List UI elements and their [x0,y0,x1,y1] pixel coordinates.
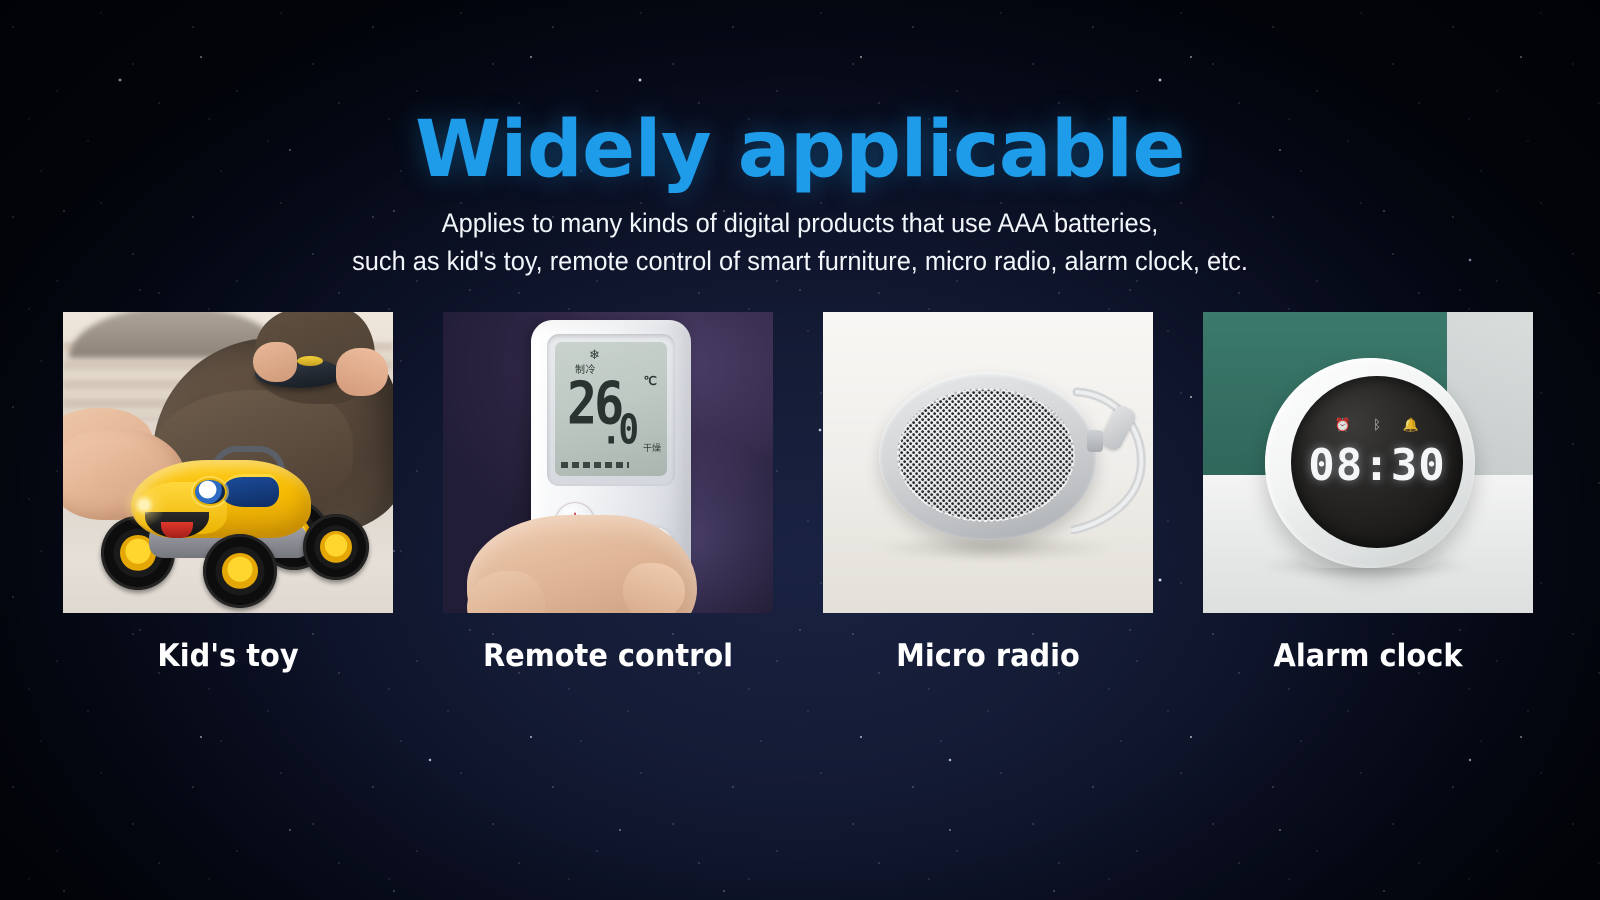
speaker-housing [879,372,1097,540]
caption-remote-control: Remote control [455,636,762,680]
remote-temperature-decimal: .0 [601,410,636,451]
toy-wheel [303,514,369,580]
caption-alarm-clock: Alarm clock [1215,636,1522,680]
subtitle-line-1: Applies to many kinds of digital product… [48,204,1552,242]
product-card-remote-control[interactable]: ❄ 制冷 26 .0 ℃ 干燥 ⏻ 模式 + ❧ [443,312,773,613]
bluetooth-icon: ᛒ [1373,418,1381,431]
page-title: Widely applicable [0,108,1600,192]
widely-applicable-banner: Widely applicable Applies to many kinds … [0,0,1600,900]
timer-icon: ⏰ [1335,418,1351,431]
micro-radio-photo [823,312,1153,613]
alarm-clock-body: ⏰ ᛒ 🔔 08:30 [1265,358,1475,568]
product-image-row: ❄ 制冷 26 .0 ℃ 干燥 ⏻ 模式 + ❧ [63,312,1533,613]
remote-temperature-unit: ℃ [644,374,657,388]
alarm-clock-status-icons: ⏰ ᛒ 🔔 [1291,418,1463,431]
remote-dry-label: 干燥 [643,441,661,454]
toy-face-eye [193,478,227,506]
snowflake-icon: ❄ [589,348,600,361]
remote-lcd-screen: ❄ 制冷 26 .0 ℃ 干燥 [555,342,667,476]
caption-kids-toy: Kid's toy [75,636,382,680]
alarm-clock-photo: ⏰ ᛒ 🔔 08:30 [1203,312,1533,613]
product-card-kids-toy[interactable] [63,312,393,613]
page-subtitle: Applies to many kinds of digital product… [48,204,1552,280]
alarm-clock-time: 08:30 [1291,442,1463,490]
remote-lcd-signal-bars [561,462,629,468]
product-card-micro-radio[interactable] [823,312,1153,613]
alarm-clock-display: ⏰ ᛒ 🔔 08:30 [1291,376,1463,548]
caption-micro-radio: Micro radio [835,636,1142,680]
remote-control-photo: ❄ 制冷 26 .0 ℃ 干燥 ⏻ 模式 + ❧ [443,312,773,613]
remote-lcd-frame: ❄ 制冷 26 .0 ℃ 干燥 [547,334,675,486]
subtitle-line-2: such as kid's toy, remote control of sma… [48,242,1552,280]
kids-toy-photo [63,312,393,613]
bell-icon: 🔔 [1403,418,1419,431]
product-card-alarm-clock[interactable]: ⏰ ᛒ 🔔 08:30 [1203,312,1533,613]
speaker-grille [897,388,1075,522]
product-caption-row: Kid's toy Remote control Micro radio Ala… [63,636,1533,680]
toy-wheel [203,534,277,608]
speaker-side-button [1087,430,1103,452]
